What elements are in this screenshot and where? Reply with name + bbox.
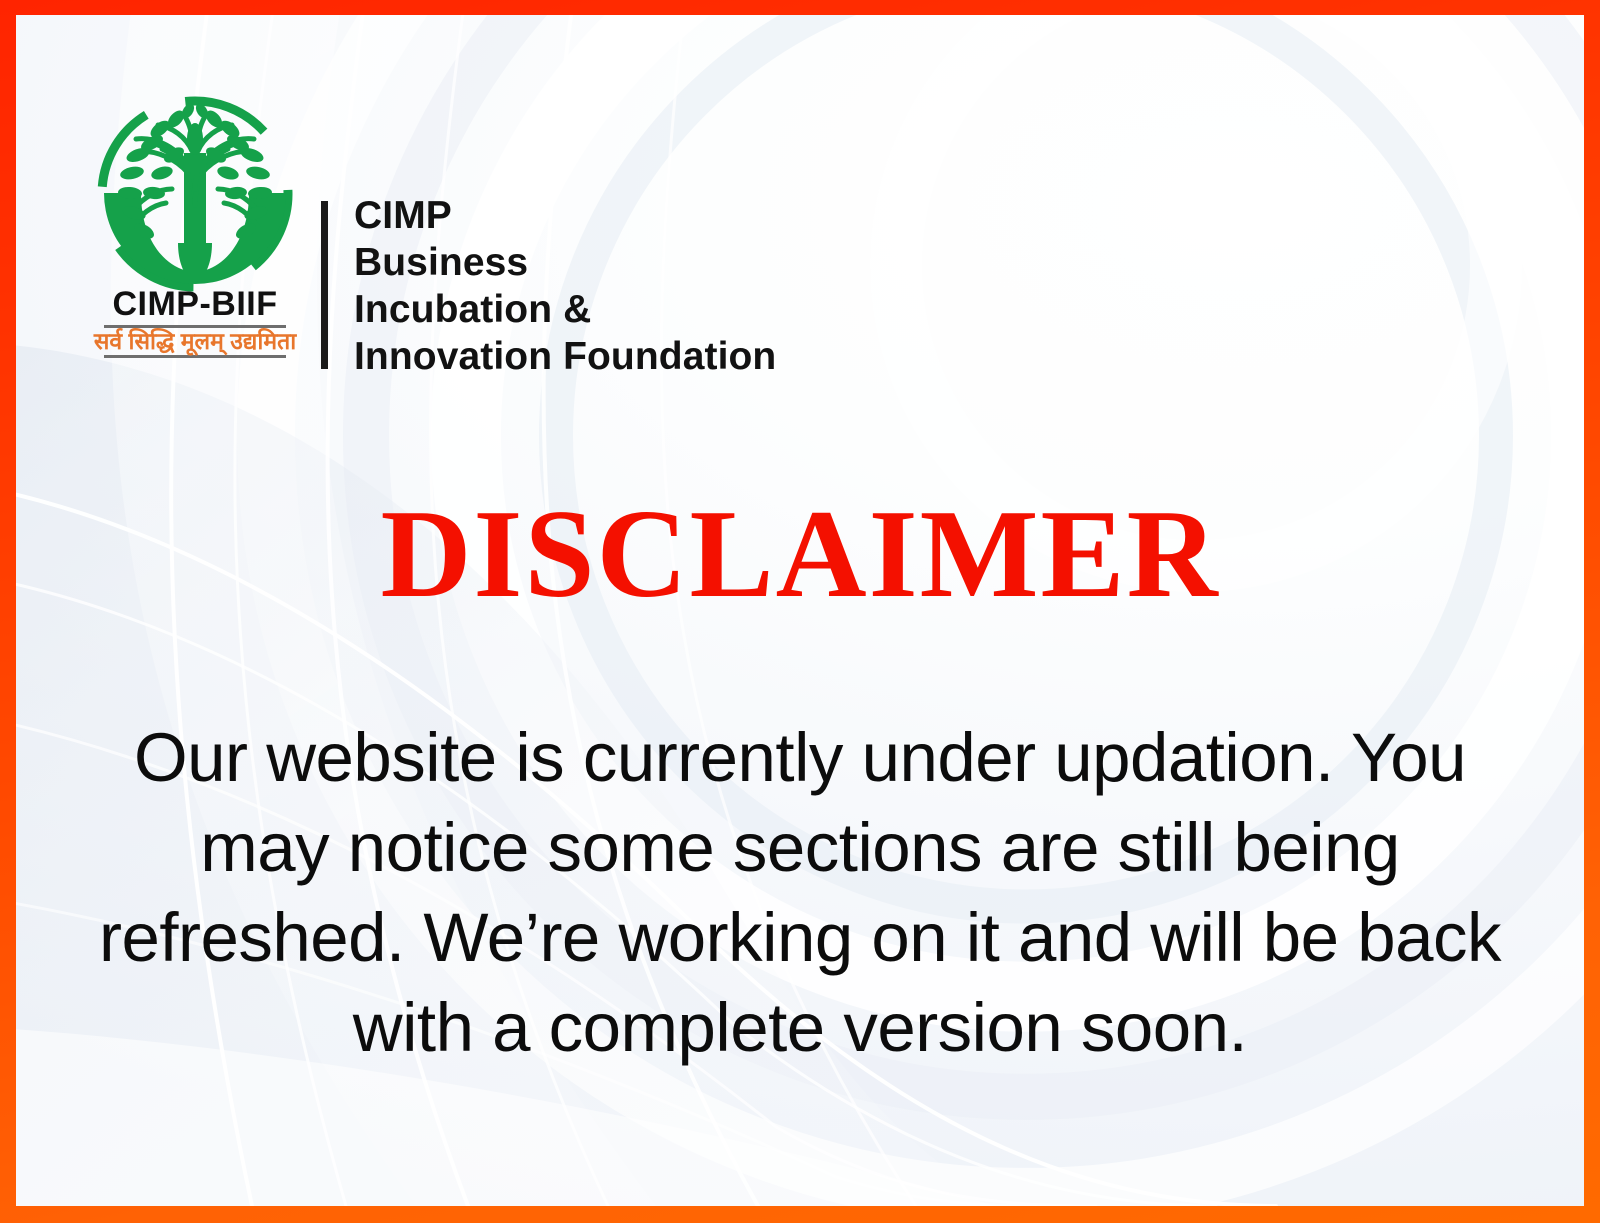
poster-canvas: CIMP-BIIF सर्व सिद्धि मूलम् उद्यमिता CIM… <box>16 15 1584 1206</box>
org-name-line-1: CIMP <box>354 192 776 239</box>
org-name-line-4: Innovation Foundation <box>354 333 776 380</box>
logo-motto: सर्व सिद्धि मूलम् उद्यमिता <box>93 327 297 356</box>
logo-acronym: CIMP-BIIF <box>112 285 277 323</box>
org-name-line-3: Incubation & <box>354 286 776 333</box>
disclaimer-message: Our website is currently under updation.… <box>76 713 1524 1073</box>
logo-lockup: CIMP-BIIF सर्व सिद्धि मूलम् उद्यमिता CIM… <box>88 93 776 380</box>
cimp-biif-tree-logo: CIMP-BIIF सर्व सिद्धि मूलम् उद्यमिता <box>88 93 302 361</box>
logo-rule-bottom <box>104 355 286 358</box>
org-name-line-2: Business <box>354 239 776 286</box>
disclaimer-poster: CIMP-BIIF सर्व सिद्धि मूलम् उद्यमिता CIM… <box>0 0 1600 1223</box>
logo-divider <box>321 201 328 369</box>
organization-name: CIMP Business Incubation & Innovation Fo… <box>354 192 776 380</box>
page-title: DISCLAIMER <box>16 492 1584 618</box>
